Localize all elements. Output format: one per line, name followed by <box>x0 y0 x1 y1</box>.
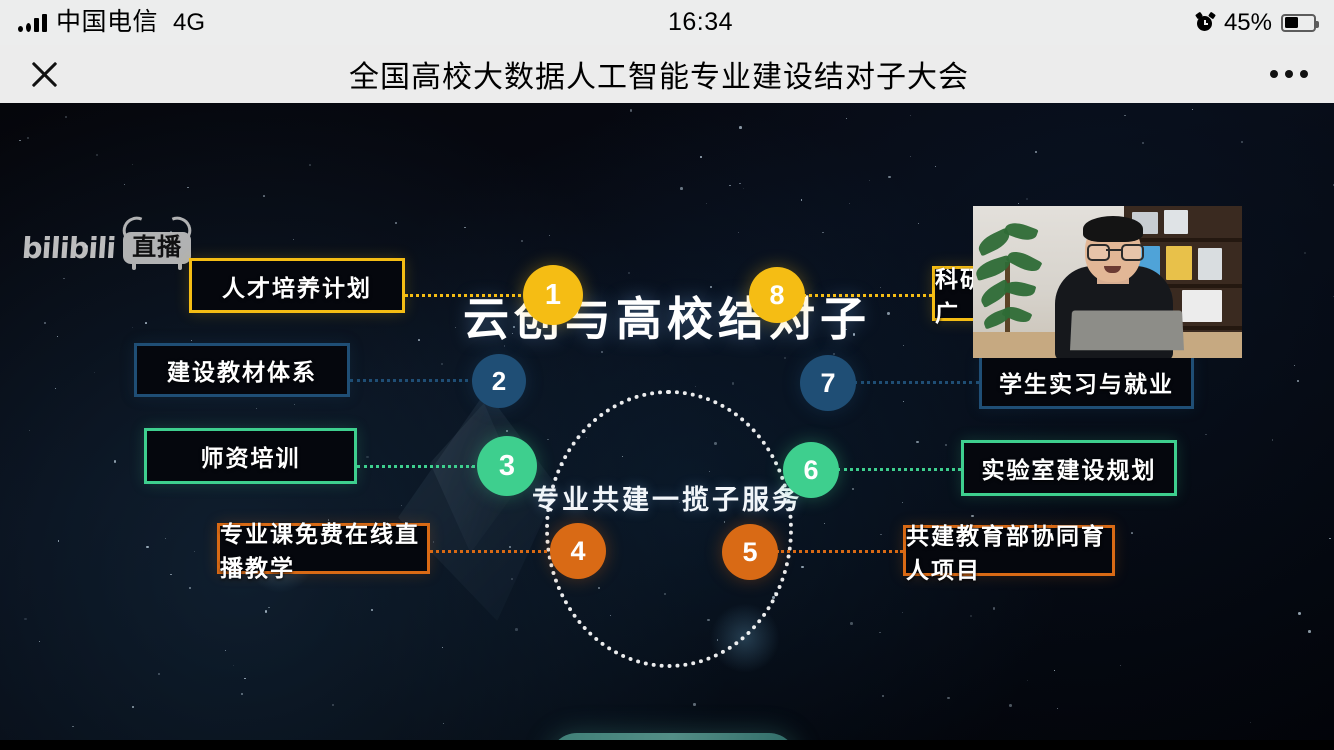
service-box-left-4[interactable]: 专业课免费在线直播教学 <box>217 523 430 574</box>
bottom-strip <box>0 740 1334 750</box>
connector-line-3 <box>357 465 481 468</box>
connector-line-2 <box>350 379 475 382</box>
battery-icon <box>1281 14 1316 32</box>
page-title: 全国高校大数据人工智能专业建设结对子大会 <box>62 52 1256 96</box>
signal-bars-icon <box>18 13 47 32</box>
starfield-background <box>0 103 1334 750</box>
service-box-left-1[interactable]: 人才培养计划 <box>189 258 405 313</box>
cam-shelf-item-2 <box>1164 210 1188 234</box>
slide-stage: bilibili 直播 云创与高校结对子 专业共建一揽子服务 人才培养计划建设教… <box>0 103 1334 750</box>
connector-line-6 <box>837 468 961 471</box>
step-node-6[interactable]: 6 <box>783 442 839 498</box>
speaker-video-overlay[interactable] <box>973 206 1242 358</box>
more-options-icon[interactable] <box>1256 70 1308 78</box>
live-badge-label: 直播 <box>132 234 182 261</box>
step-node-2[interactable]: 2 <box>472 354 526 408</box>
cam-glasses-left <box>1087 244 1110 261</box>
step-node-1[interactable]: 1 <box>523 265 583 325</box>
phone-screen: 中国电信 4G 16:34 45% 全国高校大数据人工智能专业建设结对子大会 <box>0 0 1334 750</box>
status-bar: 中国电信 4G 16:34 45% <box>0 0 1334 45</box>
cam-shelf-item-5 <box>1198 248 1222 280</box>
close-icon[interactable] <box>26 56 62 92</box>
carrier-label: 中国电信 <box>56 10 158 35</box>
bilibili-live-watermark: bilibili 直播 <box>22 231 191 265</box>
bilibili-brand-label: bilibili <box>21 231 117 265</box>
cam-laptop <box>1070 310 1184 350</box>
cam-plant <box>975 216 1053 344</box>
connector-line-5 <box>776 550 903 553</box>
title-bar: 全国高校大数据人工智能专业建设结对子大会 <box>0 45 1334 103</box>
status-bar-right: 45% <box>1196 11 1316 35</box>
connector-line-4 <box>430 550 553 553</box>
network-type-label: 4G <box>173 11 205 35</box>
service-box-left-2[interactable]: 建设教材体系 <box>134 343 350 397</box>
service-box-right-2[interactable]: 学生实习与就业 <box>979 354 1194 409</box>
service-box-left-3[interactable]: 师资培训 <box>144 428 357 484</box>
connector-line-1 <box>405 294 527 297</box>
cam-shelf-item-7 <box>1182 290 1222 322</box>
live-badge: 直播 <box>123 232 191 264</box>
step-node-8[interactable]: 8 <box>749 267 805 323</box>
cam-glasses-right <box>1121 244 1144 261</box>
status-bar-clock: 16:34 <box>205 8 1196 37</box>
connector-line-8 <box>803 294 932 297</box>
step-node-3[interactable]: 3 <box>477 436 537 496</box>
step-node-7[interactable]: 7 <box>800 355 856 411</box>
service-box-right-3[interactable]: 实验室建设规划 <box>961 440 1177 496</box>
step-node-5[interactable]: 5 <box>722 524 778 580</box>
alarm-clock-icon <box>1196 13 1215 32</box>
background-glow-point <box>710 603 780 673</box>
battery-percent-label: 45% <box>1224 11 1272 35</box>
connector-line-7 <box>854 381 979 384</box>
cam-shelf-item-4 <box>1166 246 1192 280</box>
step-node-4[interactable]: 4 <box>550 523 606 579</box>
service-box-right-4[interactable]: 共建教育部协同育人项目 <box>903 525 1115 576</box>
status-bar-left: 中国电信 4G <box>18 10 205 35</box>
